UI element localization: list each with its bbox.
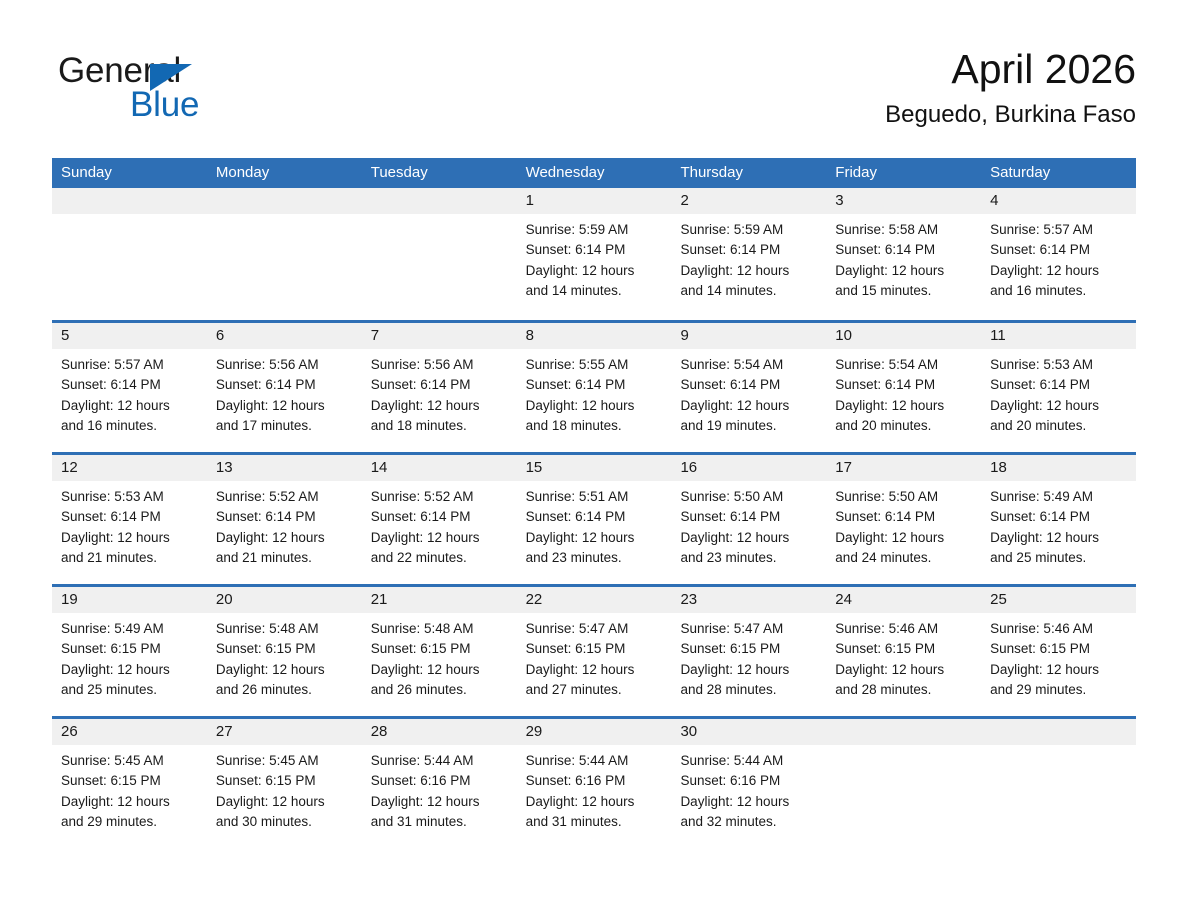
day-cell[interactable]: 20 Sunrise: 5:48 AM Sunset: 6:15 PM Dayl… [207,587,362,716]
weekday-header-sunday: Sunday [52,158,207,188]
day-cell[interactable]: 7 Sunrise: 5:56 AM Sunset: 6:14 PM Dayli… [362,323,517,452]
day-number [362,188,517,214]
daylight-text-line1: Daylight: 12 hours [680,660,818,680]
sunrise-text: Sunrise: 5:53 AM [61,487,199,507]
day-info: Sunrise: 5:53 AM Sunset: 6:14 PM Dayligh… [52,481,207,568]
day-info: Sunrise: 5:55 AM Sunset: 6:14 PM Dayligh… [517,349,672,436]
day-info: Sunrise: 5:54 AM Sunset: 6:14 PM Dayligh… [826,349,981,436]
sunset-text: Sunset: 6:15 PM [680,639,818,659]
daylight-text-line2: and 22 minutes. [371,548,509,568]
daylight-text-line1: Daylight: 12 hours [61,792,199,812]
day-cell[interactable]: 30 Sunrise: 5:44 AM Sunset: 6:16 PM Dayl… [671,719,826,848]
sunset-text: Sunset: 6:14 PM [371,507,509,527]
daylight-text-line1: Daylight: 12 hours [216,528,354,548]
sunset-text: Sunset: 6:14 PM [835,240,973,260]
sunset-text: Sunset: 6:15 PM [835,639,973,659]
daylight-text-line2: and 14 minutes. [680,281,818,301]
daylight-text-line2: and 14 minutes. [526,281,664,301]
sunrise-text: Sunrise: 5:50 AM [680,487,818,507]
day-info: Sunrise: 5:45 AM Sunset: 6:15 PM Dayligh… [207,745,362,832]
day-number: 25 [981,587,1136,613]
title-block: April 2026 Beguedo, Burkina Faso [885,44,1136,130]
daylight-text-line2: and 26 minutes. [216,680,354,700]
day-info: Sunrise: 5:53 AM Sunset: 6:14 PM Dayligh… [981,349,1136,436]
daylight-text-line2: and 26 minutes. [371,680,509,700]
page-title: April 2026 [885,44,1136,94]
daylight-text-line2: and 20 minutes. [990,416,1128,436]
sunset-text: Sunset: 6:16 PM [371,771,509,791]
sunset-text: Sunset: 6:14 PM [990,375,1128,395]
daylight-text-line1: Daylight: 12 hours [835,528,973,548]
sunset-text: Sunset: 6:14 PM [371,375,509,395]
day-number: 22 [517,587,672,613]
day-number: 16 [671,455,826,481]
sunset-text: Sunset: 6:14 PM [680,507,818,527]
day-info: Sunrise: 5:48 AM Sunset: 6:15 PM Dayligh… [362,613,517,700]
daylight-text-line2: and 15 minutes. [835,281,973,301]
day-number [52,188,207,214]
day-info: Sunrise: 5:49 AM Sunset: 6:14 PM Dayligh… [981,481,1136,568]
sunrise-text: Sunrise: 5:46 AM [835,619,973,639]
day-number: 28 [362,719,517,745]
daylight-text-line2: and 27 minutes. [526,680,664,700]
daylight-text-line2: and 21 minutes. [216,548,354,568]
daylight-text-line1: Daylight: 12 hours [680,528,818,548]
day-number: 18 [981,455,1136,481]
daylight-text-line1: Daylight: 12 hours [216,792,354,812]
daylight-text-line1: Daylight: 12 hours [371,792,509,812]
day-number: 24 [826,587,981,613]
daylight-text-line1: Daylight: 12 hours [61,660,199,680]
day-cell [362,188,517,320]
day-info: Sunrise: 5:59 AM Sunset: 6:14 PM Dayligh… [517,214,672,301]
daylight-text-line2: and 28 minutes. [835,680,973,700]
daylight-text-line1: Daylight: 12 hours [526,528,664,548]
calendar-page: General Blue April 2026 Beguedo, Burkina… [0,0,1188,918]
day-number: 14 [362,455,517,481]
day-number: 13 [207,455,362,481]
day-cell[interactable]: 11 Sunrise: 5:53 AM Sunset: 6:14 PM Dayl… [981,323,1136,452]
sunrise-text: Sunrise: 5:57 AM [990,220,1128,240]
week-row: 5 Sunrise: 5:57 AM Sunset: 6:14 PM Dayli… [52,320,1136,452]
week-row: 26 Sunrise: 5:45 AM Sunset: 6:15 PM Dayl… [52,716,1136,848]
sunrise-text: Sunrise: 5:44 AM [371,751,509,771]
day-info: Sunrise: 5:56 AM Sunset: 6:14 PM Dayligh… [362,349,517,436]
sunrise-text: Sunrise: 5:44 AM [526,751,664,771]
day-info: Sunrise: 5:49 AM Sunset: 6:15 PM Dayligh… [52,613,207,700]
general-blue-logo[interactable]: General Blue [58,52,318,124]
daylight-text-line1: Daylight: 12 hours [216,396,354,416]
sunset-text: Sunset: 6:15 PM [61,771,199,791]
sunrise-text: Sunrise: 5:53 AM [990,355,1128,375]
daylight-text-line1: Daylight: 12 hours [835,660,973,680]
daylight-text-line2: and 29 minutes. [990,680,1128,700]
weekday-header-row: Sunday Monday Tuesday Wednesday Thursday… [52,158,1136,188]
sunset-text: Sunset: 6:15 PM [526,639,664,659]
day-number: 7 [362,323,517,349]
day-cell[interactable]: 6 Sunrise: 5:56 AM Sunset: 6:14 PM Dayli… [207,323,362,452]
daylight-text-line2: and 23 minutes. [526,548,664,568]
daylight-text-line2: and 18 minutes. [526,416,664,436]
sunset-text: Sunset: 6:15 PM [371,639,509,659]
day-cell[interactable]: 13 Sunrise: 5:52 AM Sunset: 6:14 PM Dayl… [207,455,362,584]
daylight-text-line1: Daylight: 12 hours [371,396,509,416]
page-header: General Blue April 2026 Beguedo, Burkina… [0,0,1188,156]
daylight-text-line1: Daylight: 12 hours [371,528,509,548]
day-number: 17 [826,455,981,481]
sunrise-text: Sunrise: 5:46 AM [990,619,1128,639]
day-number: 27 [207,719,362,745]
day-number: 4 [981,188,1136,214]
day-number: 11 [981,323,1136,349]
day-number [981,719,1136,745]
day-cell[interactable]: 18 Sunrise: 5:49 AM Sunset: 6:14 PM Dayl… [981,455,1136,584]
daylight-text-line2: and 31 minutes. [526,812,664,832]
daylight-text-line1: Daylight: 12 hours [680,396,818,416]
week-row: 1 Sunrise: 5:59 AM Sunset: 6:14 PM Dayli… [52,188,1136,320]
sunrise-text: Sunrise: 5:51 AM [526,487,664,507]
day-number: 5 [52,323,207,349]
sunrise-text: Sunrise: 5:54 AM [835,355,973,375]
day-info: Sunrise: 5:54 AM Sunset: 6:14 PM Dayligh… [671,349,826,436]
day-number: 10 [826,323,981,349]
daylight-text-line1: Daylight: 12 hours [216,660,354,680]
week-row: 12 Sunrise: 5:53 AM Sunset: 6:14 PM Dayl… [52,452,1136,584]
sunset-text: Sunset: 6:15 PM [216,639,354,659]
sunset-text: Sunset: 6:16 PM [526,771,664,791]
daylight-text-line2: and 25 minutes. [990,548,1128,568]
day-cell[interactable]: 10 Sunrise: 5:54 AM Sunset: 6:14 PM Dayl… [826,323,981,452]
day-info: Sunrise: 5:47 AM Sunset: 6:15 PM Dayligh… [671,613,826,700]
sunset-text: Sunset: 6:14 PM [526,240,664,260]
sunset-text: Sunset: 6:15 PM [216,771,354,791]
sunset-text: Sunset: 6:14 PM [216,375,354,395]
sunrise-text: Sunrise: 5:58 AM [835,220,973,240]
day-number: 9 [671,323,826,349]
day-info: Sunrise: 5:44 AM Sunset: 6:16 PM Dayligh… [517,745,672,832]
weekday-header-saturday: Saturday [981,158,1136,188]
day-number: 30 [671,719,826,745]
daylight-text-line2: and 29 minutes. [61,812,199,832]
sunrise-text: Sunrise: 5:59 AM [680,220,818,240]
day-cell[interactable]: 12 Sunrise: 5:53 AM Sunset: 6:14 PM Dayl… [52,455,207,584]
daylight-text-line2: and 25 minutes. [61,680,199,700]
sunrise-text: Sunrise: 5:52 AM [216,487,354,507]
sunset-text: Sunset: 6:14 PM [526,375,664,395]
sunrise-text: Sunrise: 5:55 AM [526,355,664,375]
sunrise-text: Sunrise: 5:57 AM [61,355,199,375]
day-cell[interactable]: 29 Sunrise: 5:44 AM Sunset: 6:16 PM Dayl… [517,719,672,848]
sunset-text: Sunset: 6:14 PM [835,507,973,527]
day-cell [207,188,362,320]
daylight-text-line2: and 30 minutes. [216,812,354,832]
daylight-text-line2: and 32 minutes. [680,812,818,832]
sunset-text: Sunset: 6:14 PM [835,375,973,395]
daylight-text-line1: Daylight: 12 hours [526,261,664,281]
day-info: Sunrise: 5:48 AM Sunset: 6:15 PM Dayligh… [207,613,362,700]
day-cell[interactable]: 27 Sunrise: 5:45 AM Sunset: 6:15 PM Dayl… [207,719,362,848]
day-cell[interactable]: 25 Sunrise: 5:46 AM Sunset: 6:15 PM Dayl… [981,587,1136,716]
day-cell[interactable]: 19 Sunrise: 5:49 AM Sunset: 6:15 PM Dayl… [52,587,207,716]
location-subtitle: Beguedo, Burkina Faso [885,100,1136,130]
weekday-header-monday: Monday [207,158,362,188]
day-cell[interactable]: 16 Sunrise: 5:50 AM Sunset: 6:14 PM Dayl… [671,455,826,584]
sunrise-text: Sunrise: 5:48 AM [371,619,509,639]
daylight-text-line2: and 17 minutes. [216,416,354,436]
day-cell[interactable]: 28 Sunrise: 5:44 AM Sunset: 6:16 PM Dayl… [362,719,517,848]
daylight-text-line1: Daylight: 12 hours [835,396,973,416]
daylight-text-line1: Daylight: 12 hours [680,792,818,812]
daylight-text-line1: Daylight: 12 hours [835,261,973,281]
sunset-text: Sunset: 6:16 PM [680,771,818,791]
sunset-text: Sunset: 6:14 PM [680,240,818,260]
daylight-text-line2: and 16 minutes. [990,281,1128,301]
daylight-text-line2: and 18 minutes. [371,416,509,436]
day-info: Sunrise: 5:50 AM Sunset: 6:14 PM Dayligh… [671,481,826,568]
day-number: 19 [52,587,207,613]
daylight-text-line1: Daylight: 12 hours [990,528,1128,548]
daylight-text-line2: and 23 minutes. [680,548,818,568]
day-number [207,188,362,214]
day-cell[interactable]: 22 Sunrise: 5:47 AM Sunset: 6:15 PM Dayl… [517,587,672,716]
sunset-text: Sunset: 6:14 PM [680,375,818,395]
day-info: Sunrise: 5:46 AM Sunset: 6:15 PM Dayligh… [826,613,981,700]
calendar-table: Sunday Monday Tuesday Wednesday Thursday… [52,158,1136,848]
sunrise-text: Sunrise: 5:45 AM [216,751,354,771]
sunrise-text: Sunrise: 5:45 AM [61,751,199,771]
day-info: Sunrise: 5:45 AM Sunset: 6:15 PM Dayligh… [52,745,207,832]
daylight-text-line2: and 16 minutes. [61,416,199,436]
day-cell[interactable]: 24 Sunrise: 5:46 AM Sunset: 6:15 PM Dayl… [826,587,981,716]
week-row: 19 Sunrise: 5:49 AM Sunset: 6:15 PM Dayl… [52,584,1136,716]
sunrise-text: Sunrise: 5:44 AM [680,751,818,771]
daylight-text-line1: Daylight: 12 hours [526,792,664,812]
day-cell[interactable]: 4 Sunrise: 5:57 AM Sunset: 6:14 PM Dayli… [981,188,1136,320]
sunset-text: Sunset: 6:15 PM [990,639,1128,659]
day-info: Sunrise: 5:51 AM Sunset: 6:14 PM Dayligh… [517,481,672,568]
day-info: Sunrise: 5:50 AM Sunset: 6:14 PM Dayligh… [826,481,981,568]
day-number: 6 [207,323,362,349]
day-info: Sunrise: 5:47 AM Sunset: 6:15 PM Dayligh… [517,613,672,700]
day-info: Sunrise: 5:52 AM Sunset: 6:14 PM Dayligh… [207,481,362,568]
day-info: Sunrise: 5:59 AM Sunset: 6:14 PM Dayligh… [671,214,826,301]
sunrise-text: Sunrise: 5:47 AM [680,619,818,639]
sunset-text: Sunset: 6:14 PM [216,507,354,527]
day-cell[interactable]: 2 Sunrise: 5:59 AM Sunset: 6:14 PM Dayli… [671,188,826,320]
day-cell[interactable]: 23 Sunrise: 5:47 AM Sunset: 6:15 PM Dayl… [671,587,826,716]
daylight-text-line1: Daylight: 12 hours [526,396,664,416]
daylight-text-line2: and 31 minutes. [371,812,509,832]
day-cell[interactable]: 5 Sunrise: 5:57 AM Sunset: 6:14 PM Dayli… [52,323,207,452]
daylight-text-line1: Daylight: 12 hours [680,261,818,281]
day-number: 20 [207,587,362,613]
daylight-text-line2: and 19 minutes. [680,416,818,436]
day-number: 15 [517,455,672,481]
weekday-header-thursday: Thursday [671,158,826,188]
day-cell [826,719,981,848]
sunrise-text: Sunrise: 5:48 AM [216,619,354,639]
day-number: 8 [517,323,672,349]
daylight-text-line1: Daylight: 12 hours [990,261,1128,281]
sunset-text: Sunset: 6:14 PM [526,507,664,527]
daylight-text-line1: Daylight: 12 hours [990,660,1128,680]
day-cell[interactable]: 17 Sunrise: 5:50 AM Sunset: 6:14 PM Dayl… [826,455,981,584]
day-number: 1 [517,188,672,214]
day-number: 3 [826,188,981,214]
sunrise-text: Sunrise: 5:56 AM [216,355,354,375]
day-info: Sunrise: 5:57 AM Sunset: 6:14 PM Dayligh… [52,349,207,436]
sunrise-text: Sunrise: 5:50 AM [835,487,973,507]
sunrise-text: Sunrise: 5:59 AM [526,220,664,240]
day-info: Sunrise: 5:58 AM Sunset: 6:14 PM Dayligh… [826,214,981,301]
sunrise-text: Sunrise: 5:54 AM [680,355,818,375]
day-info: Sunrise: 5:56 AM Sunset: 6:14 PM Dayligh… [207,349,362,436]
day-cell[interactable]: 21 Sunrise: 5:48 AM Sunset: 6:15 PM Dayl… [362,587,517,716]
day-number [826,719,981,745]
daylight-text-line1: Daylight: 12 hours [990,396,1128,416]
sunset-text: Sunset: 6:14 PM [61,375,199,395]
sunset-text: Sunset: 6:15 PM [61,639,199,659]
day-number: 21 [362,587,517,613]
daylight-text-line2: and 21 minutes. [61,548,199,568]
day-number: 23 [671,587,826,613]
day-cell[interactable]: 15 Sunrise: 5:51 AM Sunset: 6:14 PM Dayl… [517,455,672,584]
day-info: Sunrise: 5:52 AM Sunset: 6:14 PM Dayligh… [362,481,517,568]
daylight-text-line1: Daylight: 12 hours [526,660,664,680]
day-cell[interactable]: 14 Sunrise: 5:52 AM Sunset: 6:14 PM Dayl… [362,455,517,584]
weekday-header-friday: Friday [826,158,981,188]
sunset-text: Sunset: 6:14 PM [61,507,199,527]
day-cell[interactable]: 3 Sunrise: 5:58 AM Sunset: 6:14 PM Dayli… [826,188,981,320]
daylight-text-line2: and 28 minutes. [680,680,818,700]
day-number: 29 [517,719,672,745]
daylight-text-line1: Daylight: 12 hours [61,396,199,416]
sunset-text: Sunset: 6:14 PM [990,507,1128,527]
day-info: Sunrise: 5:44 AM Sunset: 6:16 PM Dayligh… [362,745,517,832]
sunrise-text: Sunrise: 5:49 AM [990,487,1128,507]
sunrise-text: Sunrise: 5:56 AM [371,355,509,375]
day-cell[interactable]: 26 Sunrise: 5:45 AM Sunset: 6:15 PM Dayl… [52,719,207,848]
day-number: 26 [52,719,207,745]
daylight-text-line1: Daylight: 12 hours [61,528,199,548]
day-number: 12 [52,455,207,481]
day-cell[interactable]: 1 Sunrise: 5:59 AM Sunset: 6:14 PM Dayli… [517,188,672,320]
weekday-header-wednesday: Wednesday [517,158,672,188]
sunset-text: Sunset: 6:14 PM [990,240,1128,260]
day-cell [981,719,1136,848]
day-number: 2 [671,188,826,214]
day-cell[interactable]: 8 Sunrise: 5:55 AM Sunset: 6:14 PM Dayli… [517,323,672,452]
daylight-text-line2: and 24 minutes. [835,548,973,568]
day-info: Sunrise: 5:46 AM Sunset: 6:15 PM Dayligh… [981,613,1136,700]
sunrise-text: Sunrise: 5:52 AM [371,487,509,507]
weekday-header-tuesday: Tuesday [362,158,517,188]
day-info: Sunrise: 5:44 AM Sunset: 6:16 PM Dayligh… [671,745,826,832]
logo-text-blue: Blue [130,86,199,124]
sunrise-text: Sunrise: 5:49 AM [61,619,199,639]
day-cell[interactable]: 9 Sunrise: 5:54 AM Sunset: 6:14 PM Dayli… [671,323,826,452]
sunrise-text: Sunrise: 5:47 AM [526,619,664,639]
daylight-text-line2: and 20 minutes. [835,416,973,436]
day-cell [52,188,207,320]
daylight-text-line1: Daylight: 12 hours [371,660,509,680]
day-info: Sunrise: 5:57 AM Sunset: 6:14 PM Dayligh… [981,214,1136,301]
